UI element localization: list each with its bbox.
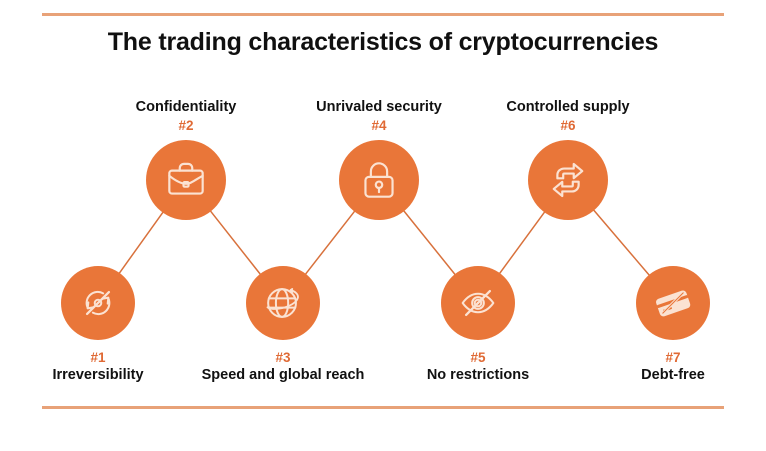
bottom-divider [42, 406, 724, 409]
node-number: #2 [136, 117, 237, 134]
connector-line [305, 210, 356, 275]
node-circle[interactable] [636, 266, 710, 340]
node-circle[interactable] [246, 266, 320, 340]
connector-line [403, 210, 456, 276]
node-label: Controlled supply [506, 98, 629, 117]
page-title: The trading characteristics of cryptocur… [0, 28, 766, 57]
briefcase-icon [161, 155, 211, 205]
node-number: #1 [52, 349, 143, 366]
node-label-block: #1Irreversibility [52, 349, 143, 385]
node-label: Irreversibility [52, 366, 143, 385]
node-label: No restrictions [427, 366, 529, 385]
node-circle[interactable] [528, 140, 608, 220]
node-label-block: #3Speed and global reach [202, 349, 365, 385]
exchange-arrows-icon [543, 155, 593, 205]
node-circle[interactable] [441, 266, 515, 340]
connector-line [210, 210, 262, 276]
node-label-block: Confidentiality#2 [136, 98, 237, 134]
node-circle[interactable] [339, 140, 419, 220]
node-label: Speed and global reach [202, 366, 365, 385]
credit-card-slash-icon [650, 280, 696, 326]
node-number: #4 [316, 117, 442, 134]
eye-slash-icon [455, 280, 501, 326]
node-label-block: #5No restrictions [427, 349, 529, 385]
node-label: Unrivaled security [316, 98, 442, 117]
node-circle[interactable] [146, 140, 226, 220]
connector-line [499, 211, 546, 275]
node-number: #7 [641, 349, 705, 366]
node-number: #6 [506, 117, 629, 134]
connector-line [118, 211, 164, 275]
node-label-block: Controlled supply#6 [506, 98, 629, 134]
node-label: Debt-free [641, 366, 705, 385]
globe-icon [260, 280, 306, 326]
irreversible-arrows-icon [75, 280, 121, 326]
node-number: #5 [427, 349, 529, 366]
padlock-icon [354, 155, 404, 205]
infographic-slide: The trading characteristics of cryptocur… [0, 0, 766, 451]
top-divider [42, 13, 724, 16]
connector-line [593, 209, 651, 276]
node-number: #3 [202, 349, 365, 366]
node-label-block: Unrivaled security#4 [316, 98, 442, 134]
node-label-block: #7Debt-free [641, 349, 705, 385]
node-label: Confidentiality [136, 98, 237, 117]
node-circle[interactable] [61, 266, 135, 340]
